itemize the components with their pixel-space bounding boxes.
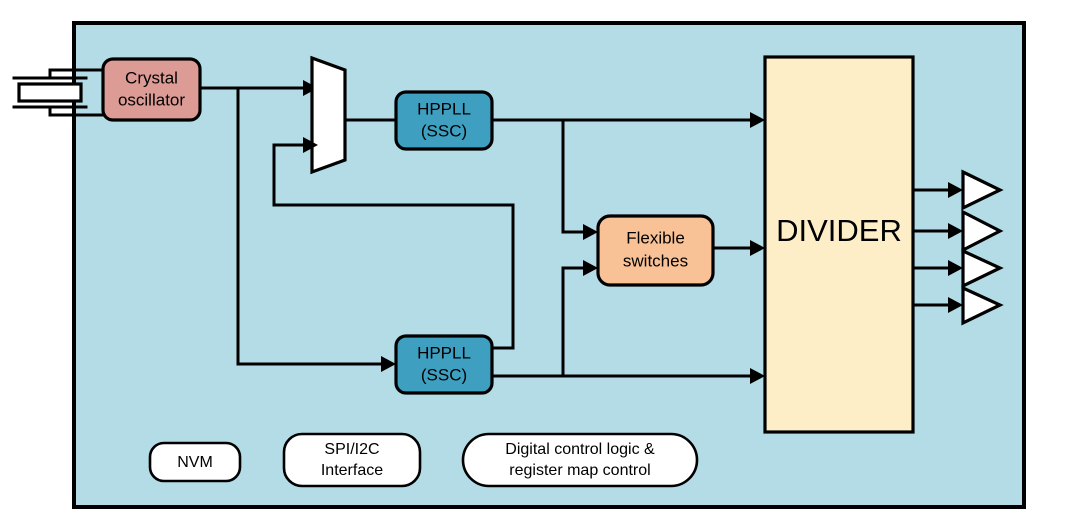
hppll-top-label-line1: HPPLL — [417, 99, 471, 118]
crystal-oscillator-label-line1: Crystal — [125, 68, 178, 87]
nvm-label: NVM — [177, 454, 213, 471]
divider-block[interactable]: DIVIDER — [765, 57, 913, 432]
block-diagram-svg: Crystal oscillator HPPLL — [0, 0, 1067, 530]
spi-i2c-label-line2: Interface — [321, 462, 383, 479]
hppll-bottom-block[interactable]: HPPLL (SSC) — [396, 336, 492, 393]
spi-i2c-label-line1: SPI/I2C — [324, 441, 379, 458]
hppll-bottom-label-line1: HPPLL — [417, 343, 471, 362]
hppll-bottom-label-line2: (SSC) — [421, 365, 467, 384]
block-diagram-canvas: Crystal oscillator HPPLL — [0, 0, 1067, 530]
digital-control-label-line1: Digital control logic & — [505, 441, 655, 458]
crystal-oscillator-block[interactable]: Crystal oscillator — [103, 59, 200, 120]
flexible-switches-label-line1: Flexible — [626, 228, 685, 247]
hppll-top-block[interactable]: HPPLL (SSC) — [396, 92, 492, 149]
crystal-oscillator-label-line2: oscillator — [118, 90, 185, 109]
hppll-top-label-line2: (SSC) — [421, 121, 467, 140]
clock-mux[interactable] — [312, 58, 345, 172]
flexible-switches-block[interactable]: Flexible switches — [598, 216, 713, 285]
spi-i2c-interface-block[interactable]: SPI/I2C Interface — [284, 434, 420, 486]
divider-label: DIVIDER — [776, 213, 902, 248]
nvm-block[interactable]: NVM — [150, 443, 240, 481]
digital-control-logic-block[interactable]: Digital control logic & register map con… — [463, 434, 697, 486]
digital-control-label-line2: register map control — [509, 462, 650, 479]
flexible-switches-label-line2: switches — [623, 251, 688, 270]
